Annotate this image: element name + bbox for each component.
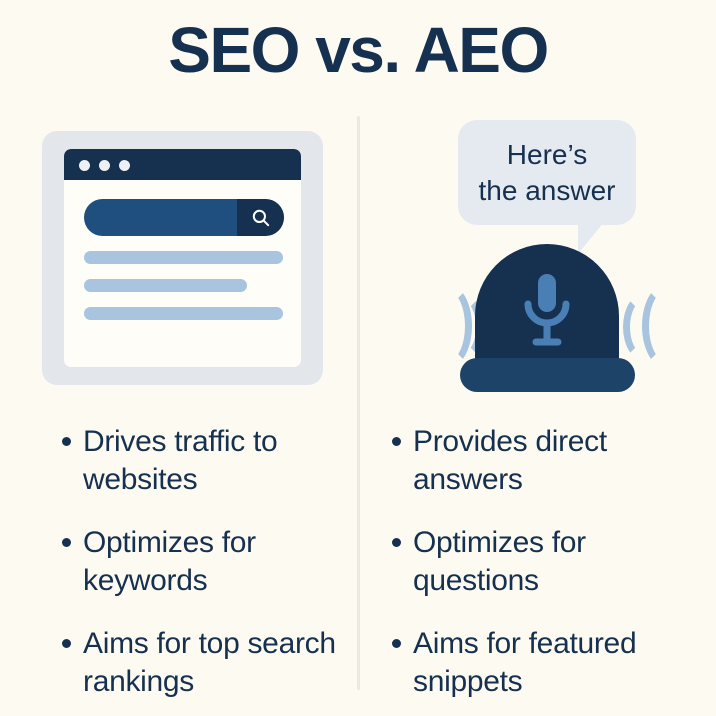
- bullet-dot-icon: [392, 538, 401, 547]
- list-item-label: Optimizes for questions: [413, 524, 692, 601]
- infographic-canvas: SEO vs. AEO: [0, 0, 716, 716]
- window-dot-maximize-icon: [119, 160, 130, 171]
- browser-window-illustration: [42, 131, 323, 385]
- sound-wave-icon: [623, 294, 663, 360]
- speech-bubble-tail: [578, 222, 604, 254]
- page-title: SEO vs. AEO: [0, 18, 716, 82]
- bullet-dot-icon: [62, 437, 71, 446]
- list-item: Drives traffic to websites: [62, 423, 347, 500]
- list-item: Aims for top search rankings: [62, 625, 347, 702]
- list-item: Provides direct answers: [392, 423, 692, 500]
- search-result-line: [84, 307, 283, 320]
- list-item-label: Optimizes for keywords: [83, 524, 347, 601]
- bullet-dot-icon: [62, 538, 71, 547]
- smart-speaker-illustration: Here’s the answer: [410, 120, 700, 392]
- browser-content-area: [64, 149, 301, 367]
- window-dot-minimize-icon: [99, 160, 110, 171]
- list-item-label: Aims for top search rankings: [83, 625, 347, 702]
- list-item-label: Aims for featured snippets: [413, 625, 692, 702]
- bullet-dot-icon: [392, 437, 401, 446]
- speech-bubble-line-2: the answer: [479, 173, 616, 209]
- window-dot-close-icon: [79, 160, 90, 171]
- browser-titlebar: [64, 149, 301, 180]
- speaker-base: [460, 358, 635, 392]
- list-item: Aims for featured snippets: [392, 625, 692, 702]
- speech-bubble: Here’s the answer: [458, 120, 636, 225]
- list-item: Optimizes for keywords: [62, 524, 347, 601]
- magnifier-icon: [251, 208, 271, 228]
- search-result-line: [84, 279, 247, 292]
- aeo-bullet-list: Provides direct answers Optimizes for qu…: [392, 423, 692, 716]
- bullet-dot-icon: [392, 639, 401, 648]
- microphone-icon: [520, 272, 574, 348]
- speech-bubble-line-1: Here’s: [507, 137, 587, 173]
- column-divider: [357, 116, 360, 690]
- search-input: [84, 199, 284, 236]
- search-result-line: [84, 251, 283, 264]
- seo-bullet-list: Drives traffic to websites Optimizes for…: [62, 423, 347, 716]
- list-item: Optimizes for questions: [392, 524, 692, 601]
- list-item-label: Drives traffic to websites: [83, 423, 347, 500]
- list-item-label: Provides direct answers: [413, 423, 692, 500]
- bullet-dot-icon: [62, 639, 71, 648]
- search-button: [237, 199, 284, 236]
